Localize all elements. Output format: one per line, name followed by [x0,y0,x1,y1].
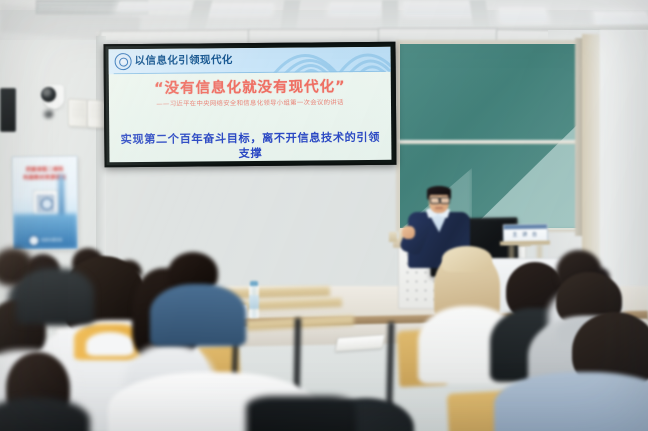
ceiling-light-panel [329,3,382,14]
camera-base [44,110,53,118]
poster-logo-icon [28,235,39,246]
presentation-slide: 以信息化引领现代化 “没有信息化就没有现代化” ——习近平在中央网络安全和信息化… [109,47,392,162]
podium-item-box [389,232,397,242]
audience-body [246,396,356,431]
bottle-cap [250,281,258,286]
audience-hair [442,246,492,272]
ceiling-light-panel [207,4,273,14]
audience-body [150,284,246,346]
poster-footer-org: 信息化建设处 [41,238,63,243]
audience-body [16,268,94,324]
security-camera-icon [41,87,56,102]
hoodie-hood [86,332,134,356]
ceiling-light-panel [117,2,192,11]
slide-body-line: 实现第二个百年奋斗目标，离不开信息技术的引领支撑 [115,130,385,162]
slide-subtitle: ——习近平在中央网络安全和信息化领导小组第一次会议的讲话 [119,98,381,109]
ceiling-light-panel [404,2,475,15]
poster-graphic-bar [59,175,64,219]
projection-screen: 以信息化引领现代化 “没有信息化就没有现代化” ——习近平在中央网络安全和信息化… [103,42,396,168]
ceiling-light-panel [499,8,547,22]
nameplate-text: 主 讲 台 [504,231,547,239]
slide-header-band: 以信息化引领现代化 [109,47,391,74]
audience-body [494,372,648,431]
water-bottle [249,284,259,318]
slide-header-title: 以信息化引领现代化 [135,53,233,68]
poster-qr-code [33,190,59,216]
chalkboard-tray [398,140,580,144]
wall-control-panel[interactable] [0,88,16,132]
wall-fixture [60,105,64,109]
slide-main-title: “没有信息化就没有现代化” [109,78,391,98]
university-emblem-icon [115,53,131,69]
nameplate-stand [500,241,550,246]
wall-poster: 把握课程二维码 构建教材资源福祉 扫码关注 获取更多 信息化建设处 [12,156,79,251]
classroom-photo-scene: 把握课程二维码 构建教材资源福祉 扫码关注 获取更多 信息化建设处 [0,0,648,431]
speaker-icon [68,98,88,127]
